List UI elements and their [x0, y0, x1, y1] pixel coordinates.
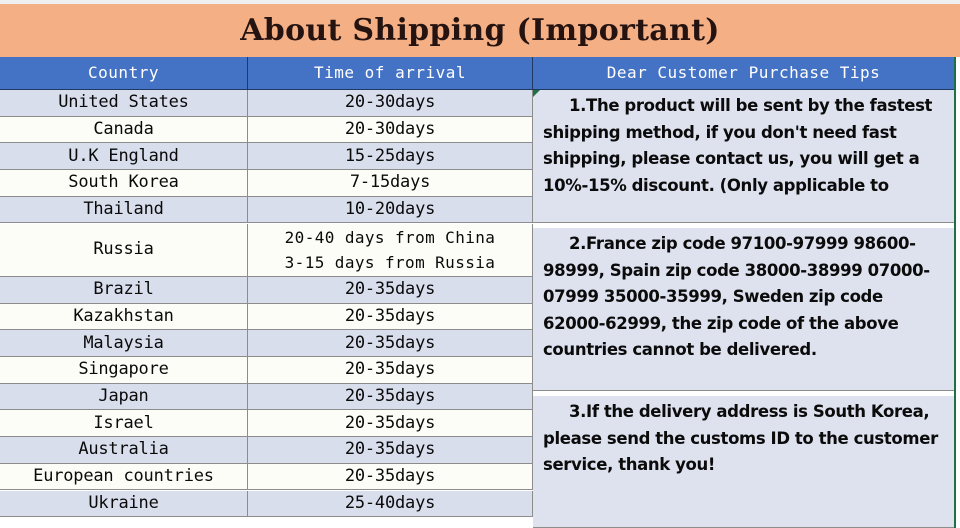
arrival-time-cell: 25-40days: [248, 491, 533, 518]
arrival-time-cell-text: 20-35days: [345, 279, 435, 300]
country-cell: Malaysia: [0, 330, 248, 357]
tip-item-1: 1.The product will be sent by the fastes…: [533, 90, 955, 223]
country-cell: South Korea: [0, 170, 248, 197]
title-banner: About Shipping (Important): [0, 4, 960, 57]
tip-item-3-text: 3.If the delivery address is South Korea…: [543, 399, 946, 479]
arrival-time-cell: 20-35days: [248, 410, 533, 437]
tip-item-1-text: 1.The product will be sent by the fastes…: [543, 93, 946, 199]
country-cell: Israel: [0, 410, 248, 437]
country-cell: Brazil: [0, 277, 248, 304]
country-cell: Canada: [0, 117, 248, 144]
page-title: About Shipping (Important): [240, 16, 720, 46]
column-header-tips-label: Dear Customer Purchase Tips: [607, 65, 881, 81]
arrival-time-cell: 20-35days: [248, 384, 533, 411]
tip-item-2: 2.France zip code 97100-97999 98600-9899…: [533, 228, 955, 391]
column-header-arrival-label: Time of arrival: [314, 65, 466, 81]
shipping-info-table: About Shipping (Important) Country Time …: [0, 0, 960, 528]
arrival-time-cell-text: 20-35days: [345, 439, 435, 460]
tip-item-3: 3.If the delivery address is South Korea…: [533, 396, 955, 528]
arrival-time-cell: 20-30days: [248, 117, 533, 144]
country-cell-text: South Korea: [68, 172, 178, 193]
country-cell-text: Malaysia: [83, 333, 163, 354]
arrival-time-cell-text: 20-35days: [345, 466, 435, 487]
arrival-time-cell-text: 20-30days: [345, 119, 435, 140]
country-cell-text: Canada: [93, 119, 153, 140]
arrival-time-cell: 10-20days: [248, 197, 533, 224]
column-header-country-label: Country: [88, 65, 159, 81]
country-cell: Kazakhstan: [0, 304, 248, 331]
arrival-time-cell-text: 20-35days: [345, 386, 435, 407]
arrival-time-cell: 20-30days: [248, 90, 533, 117]
country-cell: European countries: [0, 464, 248, 491]
country-cell-text: U.K England: [68, 146, 178, 167]
country-cell: Ukraine: [0, 491, 248, 518]
arrival-time-cell-text: 20-40 days from China 3-15 days from Rus…: [285, 225, 496, 275]
country-cell: U.K England: [0, 143, 248, 170]
country-cell: Australia: [0, 437, 248, 464]
arrival-time-cell: 20-40 days from China 3-15 days from Rus…: [248, 224, 533, 277]
country-cell: Singapore: [0, 357, 248, 384]
arrival-time-cell-text: 25-40days: [345, 493, 435, 514]
country-cell-text: Israel: [93, 413, 153, 434]
arrival-time-cell: 20-35days: [248, 437, 533, 464]
country-cell-text: Thailand: [83, 199, 163, 220]
country-cell-text: Russia: [93, 239, 153, 260]
country-cell-text: European countries: [33, 466, 214, 487]
country-cell: Japan: [0, 384, 248, 411]
arrival-time-cell-text: 10-20days: [345, 199, 435, 220]
country-cell-text: Ukraine: [88, 493, 158, 514]
country-cell: United States: [0, 90, 248, 117]
arrival-time-cell: 7-15days: [248, 170, 533, 197]
arrival-time-cell-text: 15-25days: [345, 146, 435, 167]
arrival-time-cell-text: 7-15days: [350, 172, 430, 193]
country-cell-text: United States: [58, 92, 188, 113]
arrival-time-cell: 20-35days: [248, 357, 533, 384]
arrival-time-cell-text: 20-30days: [345, 92, 435, 113]
cell-error-triangle-icon: [533, 90, 540, 97]
column-header-arrival: Time of arrival: [248, 57, 533, 90]
arrival-time-cell: 15-25days: [248, 143, 533, 170]
arrival-time-cell-text: 20-35days: [345, 306, 435, 327]
country-cell: Russia: [0, 224, 248, 277]
arrival-time-cell: 20-35days: [248, 304, 533, 331]
right-edge-marker: [954, 57, 956, 528]
arrival-time-cell: 20-35days: [248, 464, 533, 491]
tip-item-2-text: 2.France zip code 97100-97999 98600-9899…: [543, 231, 946, 364]
column-header-country: Country: [0, 57, 248, 90]
column-header-tips: Dear Customer Purchase Tips: [533, 57, 955, 90]
arrival-time-cell-text: 20-35days: [345, 413, 435, 434]
country-cell-text: Singapore: [78, 359, 168, 380]
arrival-time-cell-text: 20-35days: [345, 333, 435, 354]
country-cell-text: Australia: [78, 439, 168, 460]
country-cell-text: Japan: [98, 386, 148, 407]
arrival-time-cell-text: 20-35days: [345, 359, 435, 380]
arrival-time-cell: 20-35days: [248, 277, 533, 304]
arrival-time-cell: 20-35days: [248, 330, 533, 357]
country-cell: Thailand: [0, 197, 248, 224]
country-cell-text: Kazakhstan: [73, 306, 173, 327]
country-cell-text: Brazil: [93, 279, 153, 300]
